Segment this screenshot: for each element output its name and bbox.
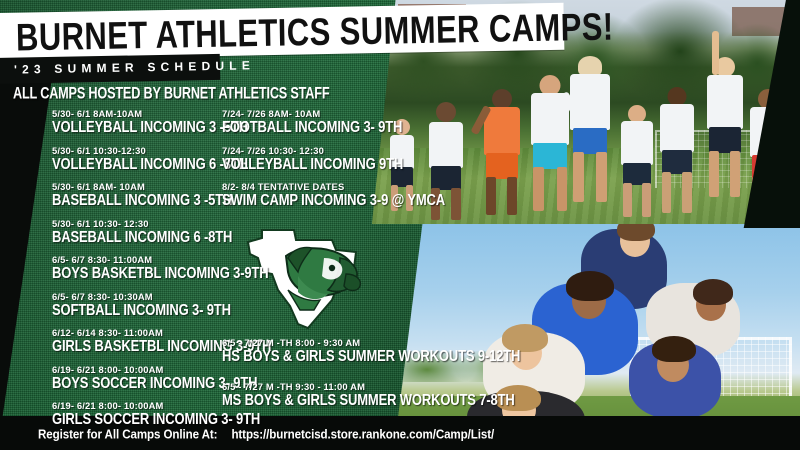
schedule-entry: 8/2- 8/4 TENTATIVE DATES SWIM CAMP INCOM… — [222, 182, 452, 206]
schedule-entry: 7/24- 7/26 10:30- 12:30 VOLLEYBALL INCOM… — [222, 146, 452, 170]
photo-person — [706, 37, 744, 197]
schedule-column-right-top: 7/24- 7/26 8AM- 10AM FOOTBALL INCOMING 3… — [222, 109, 452, 219]
photo-person — [530, 75, 570, 213]
summer-camps-poster: BURNET ATHLETICS SUMMER CAMPS! '23 SUMME… — [0, 0, 800, 450]
photo-person — [569, 56, 611, 206]
schedule-entry: 6/5 - 7/27 M -TH 9:30 - 11:00 AM MS BOYS… — [222, 382, 530, 406]
entry-camp: BOYS BASKETBL INCOMING 3-9TH — [52, 265, 271, 281]
photo-person — [659, 87, 695, 213]
schedule-column-right-bottom: 6/5 - 7/27 M -TH 8:00 - 9:30 AM HS BOYS … — [222, 338, 530, 426]
poster-subtitle: '23 SUMMER SCHEDULE — [14, 58, 255, 76]
entry-camp: MS BOYS & GIRLS SUMMER WORKOUTS 7-8TH — [222, 392, 520, 408]
registration-footer: Register for All Camps Online At:https:/… — [38, 428, 494, 442]
schedule-entry: 6/5 - 7/27 M -TH 8:00 - 9:30 AM HS BOYS … — [222, 338, 530, 362]
entry-camp: SOFTBALL INCOMING 3- 9TH — [52, 302, 271, 318]
entry-camp: VOLLEYBALL INCOMING 9TH — [222, 156, 445, 172]
entry-camp: HS BOYS & GIRLS SUMMER WORKOUTS 9-12TH — [222, 348, 520, 364]
photo-person — [483, 83, 521, 215]
photo-person — [620, 105, 654, 217]
entry-camp: SWIM CAMP INCOMING 3-9 @ YMCA — [222, 192, 445, 208]
schedule-entry: 6/5- 6/7 8:30- 11:00AM BOYS BASKETBL INC… — [52, 255, 278, 279]
footer-label: Register for All Camps Online At: — [38, 428, 217, 442]
poster-title-banner: BURNET ATHLETICS SUMMER CAMPS! — [0, 3, 564, 61]
schedule-entry: 6/5- 6/7 8:30- 10:30AM SOFTBALL INCOMING… — [52, 292, 278, 316]
hosted-by-line: ALL CAMPS HOSTED BY BURNET ATHLETICS STA… — [13, 84, 329, 102]
schedule-entry: 7/24- 7/26 8AM- 10AM FOOTBALL INCOMING 3… — [222, 109, 452, 133]
registration-url[interactable]: https://burnetcisd.store.rankone.com/Cam… — [231, 428, 494, 442]
poster-subtitle-banner: '23 SUMMER SCHEDULE — [0, 54, 220, 84]
photo-person — [629, 342, 721, 418]
entry-camp: FOOTBALL INCOMING 3- 9TH — [222, 119, 445, 135]
entry-camp: BASEBALL INCOMING 6 -8TH — [52, 229, 271, 245]
schedule-entry: 5/30- 6/1 10:30- 12:30 BASEBALL INCOMING… — [52, 219, 278, 243]
